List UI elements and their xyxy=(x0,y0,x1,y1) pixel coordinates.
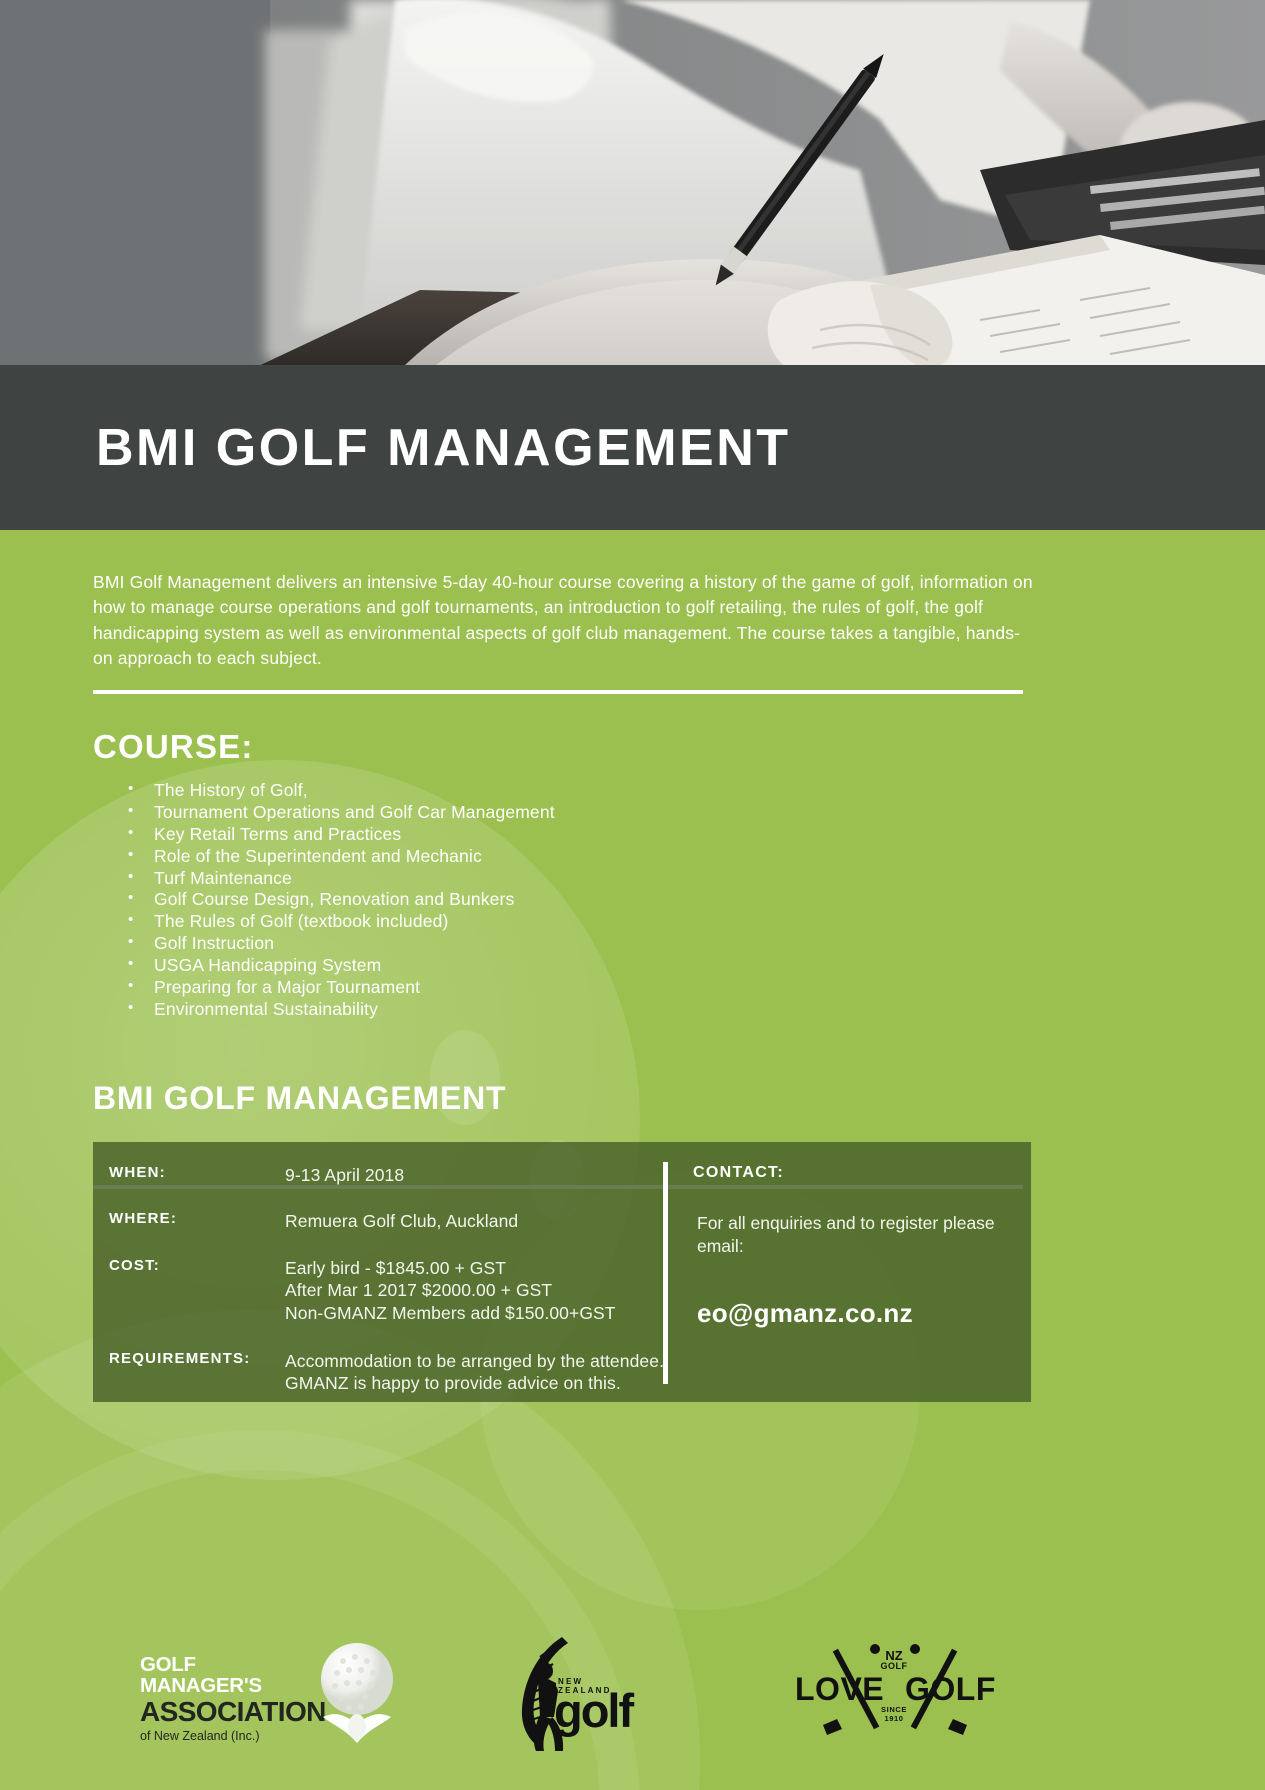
when-label: WHEN: xyxy=(109,1164,166,1181)
cost-line-1: Early bird - $1845.00 + GST xyxy=(285,1257,669,1279)
since-year: 1910 xyxy=(869,1714,919,1723)
nz-golf-badge: NZ GOLF xyxy=(874,1649,914,1671)
details-box: WHEN: 9-13 April 2018 WHERE: Remuera Gol… xyxy=(93,1142,1031,1402)
nz-golf-wordmark: golf xyxy=(554,1683,632,1738)
course-list-item: Tournament Operations and Golf Car Manag… xyxy=(120,802,880,824)
requirements-label: REQUIREMENTS: xyxy=(109,1350,250,1367)
nz-golf-logo: NEW ZEALAND golf xyxy=(510,1631,640,1751)
details-heading: BMI GOLF MANAGEMENT xyxy=(93,1080,506,1117)
course-list-item: Golf Instruction xyxy=(120,933,880,955)
hero-photo xyxy=(0,0,1265,370)
contact-text: For all enquiries and to register please… xyxy=(697,1212,1013,1258)
course-list-item: Preparing for a Major Tournament xyxy=(120,977,880,999)
detail-row-requirements: REQUIREMENTS: Accommodation to be arrang… xyxy=(109,1350,669,1395)
course-list-item: USGA Handicapping System xyxy=(120,955,880,977)
course-list-item: The Rules of Golf (textbook included) xyxy=(120,911,880,933)
requirements-value-text: Accommodation to be arranged by the atte… xyxy=(285,1350,669,1395)
poster-body: BMI Golf Management delivers an intensiv… xyxy=(0,530,1265,1790)
course-list-item: The History of Golf, xyxy=(120,780,880,802)
course-list-item: Role of the Superintendent and Mechanic xyxy=(120,846,880,868)
divider-top xyxy=(93,690,1023,694)
requirements-value: Accommodation to be arranged by the atte… xyxy=(285,1350,669,1395)
golf-ball-on-tee-icon xyxy=(305,1639,410,1749)
where-value: Remuera Golf Club, Auckland xyxy=(285,1210,669,1232)
gmanz-logo: GOLF MANAGER'S ASSOCIATION of New Zealan… xyxy=(140,1637,410,1747)
course-list-item: Key Retail Terms and Practices xyxy=(120,824,880,846)
since-badge: SINCE 1910 xyxy=(869,1705,919,1724)
detail-row-cost: COST: Early bird - $1845.00 + GST After … xyxy=(109,1257,669,1324)
gmanz-line-1: GOLF MANAGER'S xyxy=(140,1655,310,1696)
course-heading: COURSE: xyxy=(93,728,254,766)
title-band: BMI GOLF MANAGEMENT xyxy=(0,365,1265,530)
gmanz-logo-text: GOLF MANAGER'S ASSOCIATION of New Zealan… xyxy=(140,1655,310,1743)
page-title: BMI GOLF MANAGEMENT xyxy=(96,418,791,478)
details-left-column: WHEN: 9-13 April 2018 WHERE: Remuera Gol… xyxy=(109,1164,669,1409)
cost-label: COST: xyxy=(109,1257,160,1274)
cost-line-2: After Mar 1 2017 $2000.00 + GST xyxy=(285,1279,669,1301)
where-label: WHERE: xyxy=(109,1210,177,1227)
intro-block: BMI Golf Management delivers an intensiv… xyxy=(93,570,1033,672)
detail-row-when: WHEN: 9-13 April 2018 xyxy=(109,1164,669,1186)
gmanz-line-3: of New Zealand (Inc.) xyxy=(140,1730,310,1743)
details-vertical-rule xyxy=(663,1162,668,1384)
when-value-text: 9-13 April 2018 xyxy=(285,1164,669,1186)
love-word: LOVE xyxy=(795,1671,884,1708)
gmanz-line-2: ASSOCIATION xyxy=(140,1698,310,1726)
cost-value: Early bird - $1845.00 + GST After Mar 1 … xyxy=(285,1257,669,1324)
contact-email-link[interactable]: eo@gmanz.co.nz xyxy=(697,1298,1013,1329)
since-label: SINCE xyxy=(869,1705,919,1714)
love-golf-logo: LOVE GOLF NZ GOLF SINCE 1910 xyxy=(795,1643,995,1743)
where-value-text: Remuera Golf Club, Auckland xyxy=(285,1210,669,1232)
footer-logos: GOLF MANAGER'S ASSOCIATION of New Zealan… xyxy=(0,1615,1265,1775)
course-list-item: Environmental Sustainability xyxy=(120,999,880,1021)
contact-title: CONTACT: xyxy=(693,1164,1013,1182)
cost-line-3: Non-GMANZ Members add $150.00+GST xyxy=(285,1302,669,1324)
contact-column: CONTACT: For all enquiries and to regist… xyxy=(693,1164,1013,1329)
golf-word: GOLF xyxy=(905,1671,996,1708)
nz-badge-bottom: GOLF xyxy=(874,1662,914,1671)
when-value: 9-13 April 2018 xyxy=(285,1164,669,1186)
course-list-item: Golf Course Design, Renovation and Bunke… xyxy=(120,889,880,911)
course-list: The History of Golf,Tournament Operation… xyxy=(120,780,880,1021)
intro-paragraph: BMI Golf Management delivers an intensiv… xyxy=(93,570,1033,672)
course-list-item: Turf Maintenance xyxy=(120,868,880,890)
hero-photo-illustration xyxy=(0,0,1265,370)
detail-row-where: WHERE: Remuera Golf Club, Auckland xyxy=(109,1210,669,1232)
